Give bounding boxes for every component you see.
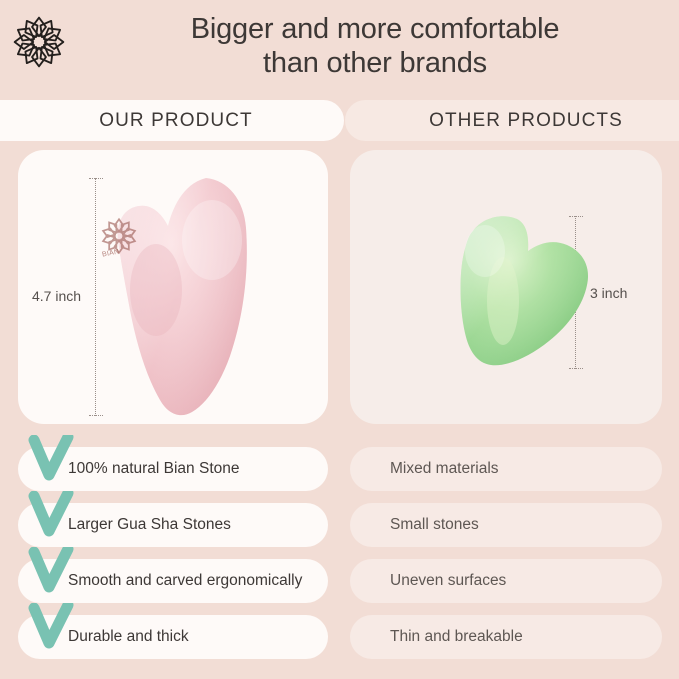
other-products-card: 3 inch xyxy=(350,150,662,424)
column-header-our-product: OUR PRODUCT xyxy=(0,100,344,141)
header: Bigger and more comfortable than other b… xyxy=(0,0,679,94)
brand-engraving-icon xyxy=(97,214,141,270)
rosette-mandala-logo-icon xyxy=(10,13,68,71)
headline-line-2: than other brands xyxy=(90,47,660,81)
other-products-label: OTHER PRODUCTS xyxy=(423,110,623,132)
feature-row-our-3: Smooth and carved ergonomically xyxy=(18,559,328,603)
feature-row-other-2: Small stones xyxy=(350,503,662,547)
feature-row-other-4: Thin and breakable xyxy=(350,615,662,659)
headline-line-1: Bigger and more comfortable xyxy=(90,13,660,47)
product-comparison-infographic: Bigger and more comfortable than other b… xyxy=(0,0,679,679)
dimension-label-our-product: 4.7 inch xyxy=(32,288,81,304)
feature-row-our-1: 100% natural Bian Stone xyxy=(18,447,328,491)
feature-label: Small stones xyxy=(350,516,479,534)
green-jade-gua-sha-image xyxy=(445,205,600,380)
feature-row-our-2: Larger Gua Sha Stones xyxy=(18,503,328,547)
feature-label: Thin and breakable xyxy=(350,628,523,646)
rose-quartz-gua-sha-image xyxy=(94,170,264,420)
column-header-other-products: OTHER PRODUCTS xyxy=(345,100,679,141)
our-product-label: OUR PRODUCT xyxy=(69,110,253,132)
feature-label: Mixed materials xyxy=(350,460,499,478)
feature-label: 100% natural Bian Stone xyxy=(18,460,239,478)
feature-label: Smooth and carved ergonomically xyxy=(18,572,302,590)
our-product-card: 4.7 inch xyxy=(18,150,328,424)
feature-row-our-4: Durable and thick xyxy=(18,615,328,659)
feature-row-other-3: Uneven surfaces xyxy=(350,559,662,603)
feature-label: Durable and thick xyxy=(18,628,189,646)
feature-row-other-1: Mixed materials xyxy=(350,447,662,491)
feature-label: Uneven surfaces xyxy=(350,572,506,590)
feature-label: Larger Gua Sha Stones xyxy=(18,516,231,534)
page-title: Bigger and more comfortable than other b… xyxy=(90,13,660,81)
